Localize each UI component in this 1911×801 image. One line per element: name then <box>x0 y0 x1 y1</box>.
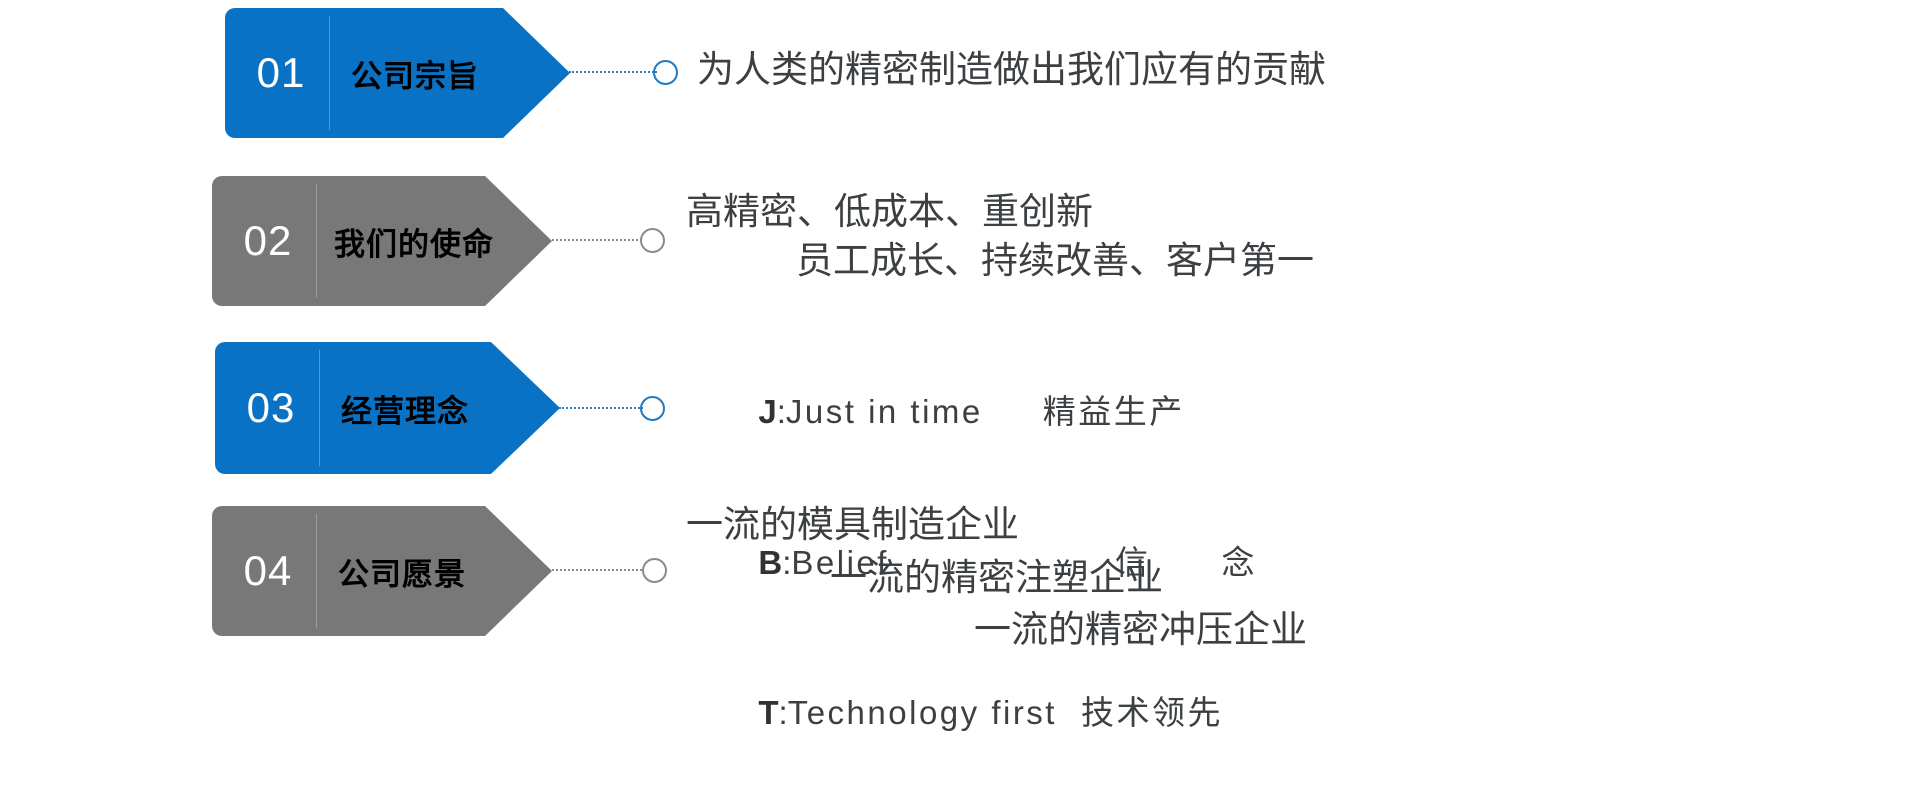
principle-english: Technology first <box>788 694 1057 731</box>
step-content-02: 高精密、低成本、重创新 员工成长、持续改善、客户第一 <box>686 188 1314 286</box>
connector-line-01 <box>569 71 657 75</box>
connector-line-04 <box>552 569 642 573</box>
content-line: 为人类的精密制造做出我们应有的贡献 <box>697 46 1326 95</box>
step-content-04: 一流的模具制造企业 一流的精密注塑企业 一流的精密冲压企业 <box>686 499 1307 657</box>
step-row-02: 02 我们的使命 高精密、低成本、重创新 员工成长、持续改善、客户第一 <box>212 176 1872 306</box>
principle-separator: : <box>777 393 786 430</box>
step-banner-04[interactable]: 04 公司愿景 <box>212 506 552 636</box>
step-label-04: 公司愿景 <box>338 549 466 594</box>
step-number-04: 04 <box>212 547 316 595</box>
content-line: 一流的模具制造企业 <box>686 499 1307 552</box>
banner-divider-02 <box>316 184 317 298</box>
step-content-01: 为人类的精密制造做出我们应有的贡献 <box>697 46 1326 95</box>
banner-divider-01 <box>329 16 330 130</box>
step-label-01: 公司宗旨 <box>351 51 479 96</box>
step-row-03: 03 经营理念 J:Just in time精益生产 B:Belief信 念 T… <box>215 342 1875 474</box>
principle-key: T <box>758 694 778 731</box>
step-banner-01[interactable]: 01 公司宗旨 <box>225 8 570 138</box>
circle-marker-gray-04 <box>642 558 667 583</box>
principle-key: J <box>758 393 776 430</box>
step-label-03: 经营理念 <box>341 386 469 431</box>
banner-divider-03 <box>319 350 320 466</box>
step-number-02: 02 <box>212 217 316 265</box>
circle-marker-blue-03 <box>640 396 665 421</box>
content-line: 员工成长、持续改善、客户第一 <box>686 237 1314 286</box>
content-line: 一流的精密冲压企业 <box>686 604 1307 657</box>
step-banner-03[interactable]: 03 经营理念 <box>215 342 560 474</box>
step-number-03: 03 <box>215 384 319 432</box>
step-row-01: 01 公司宗旨 为人类的精密制造做出我们应有的贡献 <box>225 8 1875 138</box>
step-banner-02[interactable]: 02 我们的使命 <box>212 176 552 306</box>
principle-item: J:Just in time精益生产 <box>685 337 1257 487</box>
connector-line-03 <box>559 407 643 411</box>
step-number-01: 01 <box>225 49 329 97</box>
content-line: 高精密、低成本、重创新 <box>686 188 1314 237</box>
banner-divider-04 <box>316 514 317 628</box>
connector-line-02 <box>552 239 642 243</box>
content-line: 一流的精密注塑企业 <box>686 552 1307 605</box>
circle-marker-gray-02 <box>640 228 665 253</box>
principle-chinese: 技术领先 <box>1081 694 1223 731</box>
principle-english: Just in time <box>786 393 983 430</box>
circle-marker-blue-01 <box>653 60 678 85</box>
infographic-canvas: 01 公司宗旨 为人类的精密制造做出我们应有的贡献 02 我们的使命 高精 <box>0 0 1911 801</box>
principle-chinese: 精益生产 <box>1043 393 1185 430</box>
principle-item: T:Technology first技术领先 <box>685 638 1257 788</box>
principle-separator: : <box>779 694 788 731</box>
step-label-02: 我们的使命 <box>334 219 494 264</box>
step-row-04: 04 公司愿景 一流的模具制造企业 一流的精密注塑企业 一流的精密冲压企业 <box>212 506 1892 636</box>
